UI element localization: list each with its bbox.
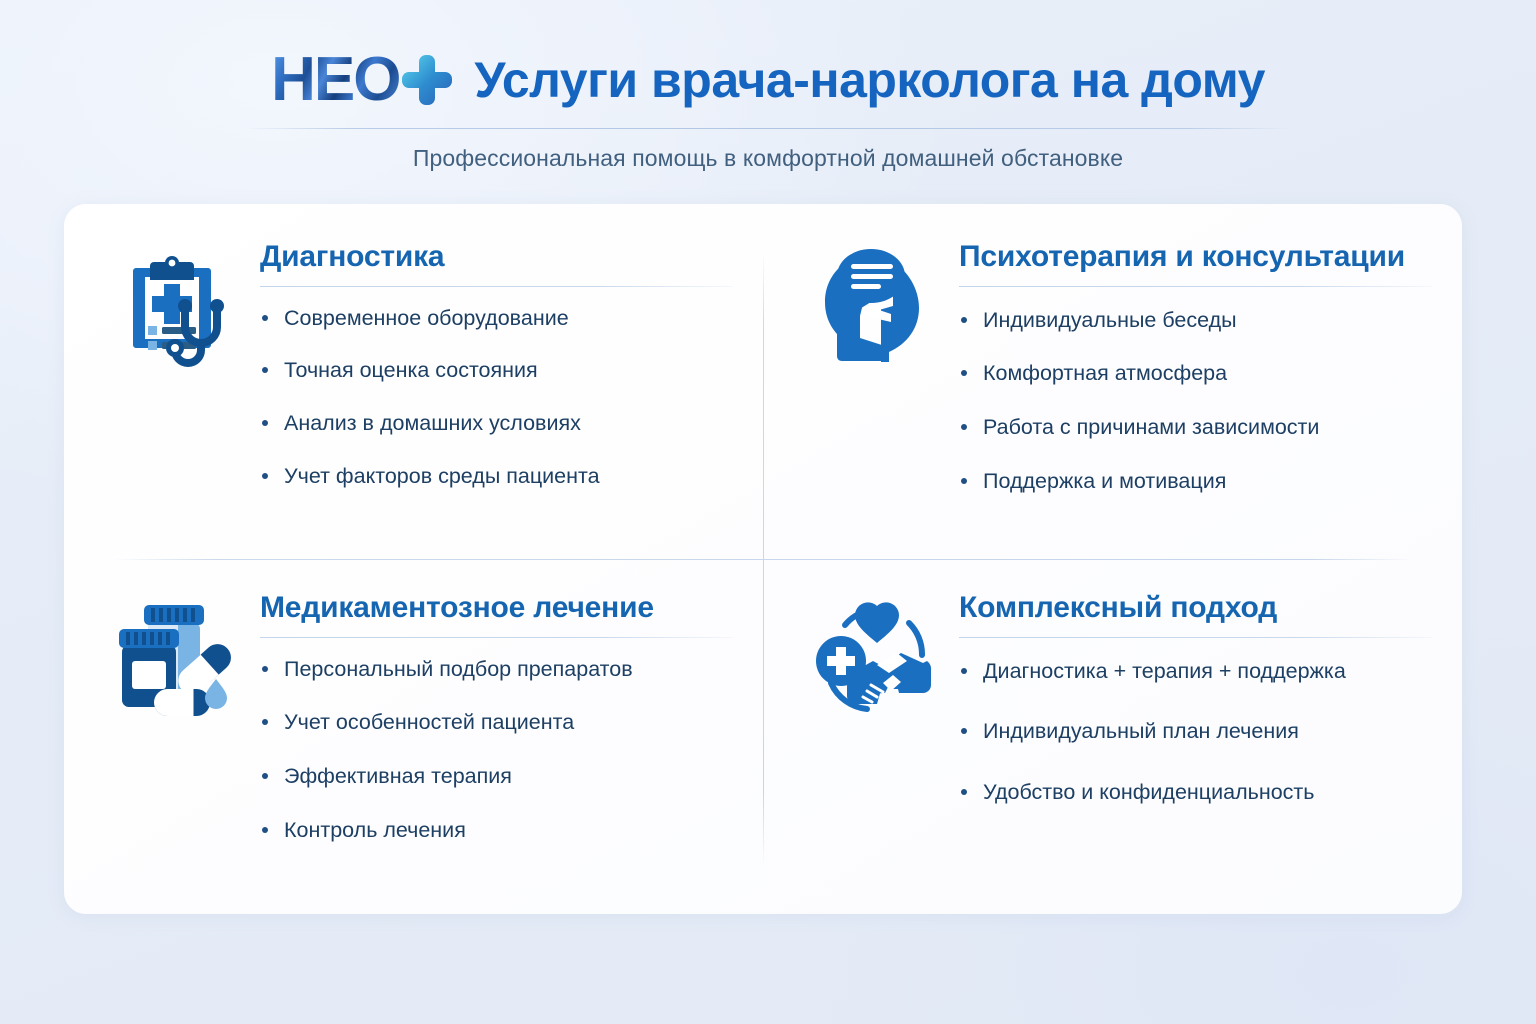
bullet-icon bbox=[961, 668, 967, 674]
list-item: Индивидуальные беседы bbox=[959, 307, 1432, 334]
list-item-label: Персональный подбор препаратов bbox=[284, 657, 633, 681]
plus-icon bbox=[402, 55, 452, 105]
pill-bottles-capsules-icon bbox=[106, 593, 238, 725]
service-card-divider bbox=[959, 286, 1432, 287]
bullet-icon bbox=[262, 420, 268, 426]
bullet-icon bbox=[262, 473, 268, 479]
service-feature-list: Современное оборудование Точная оценка с… bbox=[260, 305, 733, 491]
service-card-body: Психотерапия и консультации Индивидуальн… bbox=[959, 238, 1432, 522]
list-item: Персональный подбор препаратов bbox=[260, 656, 733, 683]
list-item: Диагностика + терапия + поддержка bbox=[959, 658, 1432, 685]
list-item: Контроль лечения bbox=[260, 817, 733, 844]
bullet-icon bbox=[262, 666, 268, 672]
list-item-label: Современное оборудование bbox=[284, 306, 569, 330]
brand-logo: НЕО bbox=[271, 49, 452, 111]
service-feature-list: Диагностика + терапия + поддержка Индиви… bbox=[959, 658, 1432, 807]
list-item: Поддержка и мотивация bbox=[959, 468, 1432, 495]
header-divider bbox=[245, 128, 1291, 129]
list-item-label: Комфортная атмосфера bbox=[983, 361, 1227, 385]
bullet-icon bbox=[262, 827, 268, 833]
list-item-label: Индивидуальные беседы bbox=[983, 308, 1237, 332]
service-card-divider bbox=[959, 637, 1432, 638]
service-feature-list: Индивидуальные беседы Комфортная атмосфе… bbox=[959, 307, 1432, 496]
list-item: Современное оборудование bbox=[260, 305, 733, 332]
service-card-title: Психотерапия и консультации bbox=[959, 240, 1432, 274]
service-card-diagnostics: Диагностика Современное оборудование Точ… bbox=[64, 204, 763, 559]
service-card-divider bbox=[260, 637, 733, 638]
header-row: НЕО Услуги врача-нарколога на дому bbox=[0, 42, 1536, 118]
list-item: Анализ в домашних условиях bbox=[260, 410, 733, 437]
bullet-icon bbox=[961, 317, 967, 323]
list-item: Удобство и конфиденциальность bbox=[959, 779, 1432, 806]
list-item: Работа с причинами зависимости bbox=[959, 414, 1432, 441]
list-item-label: Учет факторов среды пациента bbox=[284, 464, 600, 488]
bullet-icon bbox=[961, 728, 967, 734]
bullet-icon bbox=[262, 719, 268, 725]
list-item-label: Контроль лечения bbox=[284, 818, 466, 842]
list-item: Индивидуальный план лечения bbox=[959, 718, 1432, 745]
services-panel: Диагностика Современное оборудование Точ… bbox=[64, 204, 1462, 914]
heart-handshake-cross-icon bbox=[805, 591, 937, 723]
service-card-body: Медикаментозное лечение Персональный под… bbox=[260, 589, 733, 871]
list-item-label: Эффективная терапия bbox=[284, 764, 512, 788]
bullet-icon bbox=[961, 478, 967, 484]
service-card-title: Комплексный подход bbox=[959, 591, 1432, 625]
logo-wordmark: НЕО bbox=[271, 49, 399, 111]
service-card-psychotherapy: Психотерапия и консультации Индивидуальн… bbox=[763, 204, 1462, 559]
list-item-label: Индивидуальный план лечения bbox=[983, 719, 1299, 743]
bullet-icon bbox=[961, 424, 967, 430]
service-card-body: Комплексный подход Диагностика + терапия… bbox=[959, 589, 1432, 840]
service-card-body: Диагностика Современное оборудование Точ… bbox=[260, 238, 733, 490]
bullet-icon bbox=[262, 315, 268, 321]
service-feature-list: Персональный подбор препаратов Учет особ… bbox=[260, 656, 733, 845]
list-item: Точная оценка состояния bbox=[260, 357, 733, 384]
bullet-icon bbox=[961, 789, 967, 795]
list-item: Комфортная атмосфера bbox=[959, 360, 1432, 387]
head-speech-bubble-icon bbox=[805, 240, 937, 372]
list-item: Эффективная терапия bbox=[260, 763, 733, 790]
list-item: Учет факторов среды пациента bbox=[260, 463, 733, 490]
list-item-label: Удобство и конфиденциальность bbox=[983, 780, 1314, 804]
header: НЕО Услуги врача-нарколога на дому Профе… bbox=[0, 0, 1536, 190]
service-card-divider bbox=[260, 286, 733, 287]
bullet-icon bbox=[262, 773, 268, 779]
list-item: Учет особенностей пациента bbox=[260, 709, 733, 736]
clipboard-stethoscope-icon bbox=[106, 242, 238, 374]
list-item-label: Поддержка и мотивация bbox=[983, 469, 1226, 493]
list-item-label: Точная оценка состояния bbox=[284, 358, 538, 382]
list-item-label: Учет особенностей пациента bbox=[284, 710, 574, 734]
list-item-label: Анализ в домашних условиях bbox=[284, 411, 581, 435]
service-card-complex-approach: Комплексный подход Диагностика + терапия… bbox=[763, 559, 1462, 914]
service-card-title: Диагностика bbox=[260, 240, 733, 274]
page-subtitle: Профессиональная помощь в комфортной дом… bbox=[0, 145, 1536, 172]
service-card-title: Медикаментозное лечение bbox=[260, 591, 733, 625]
list-item-label: Диагностика + терапия + поддержка bbox=[983, 659, 1346, 683]
service-card-medication: Медикаментозное лечение Персональный под… bbox=[64, 559, 763, 914]
bullet-icon bbox=[961, 370, 967, 376]
page-title: Услуги врача-нарколога на дому bbox=[474, 55, 1265, 105]
bullet-icon bbox=[262, 367, 268, 373]
list-item-label: Работа с причинами зависимости bbox=[983, 415, 1319, 439]
